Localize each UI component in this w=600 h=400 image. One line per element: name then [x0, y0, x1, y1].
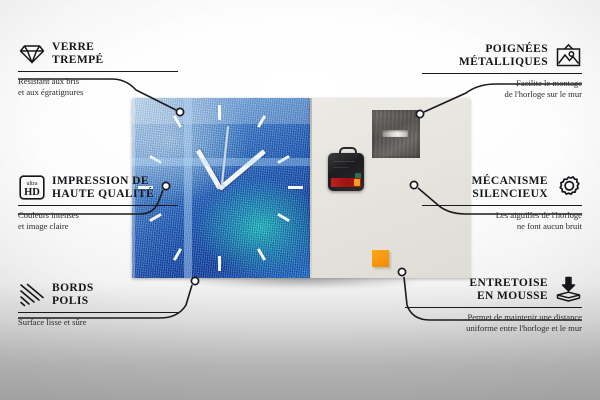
callout-subtitle: Permet de maintenir une distance uniform…: [405, 312, 582, 333]
subtitle-line: de l'horloge sur le mur: [422, 89, 582, 100]
subtitle-line: et image claire: [18, 221, 178, 232]
subtitle-line: Résistant aux bris: [18, 76, 178, 87]
callout-title-line: MÉTALLIQUES: [459, 56, 548, 69]
picture-frame-hanger-icon: [555, 42, 582, 69]
infographic-canvas: VERRETREMPÉ Résistant aux bris et aux ég…: [0, 0, 600, 400]
callout-title: IMPRESSION DEHAUTE QUALITÉ: [52, 175, 154, 201]
callout-title-line: POLIS: [52, 295, 94, 308]
callout-title-line: POIGNÉES: [459, 43, 548, 56]
callout-subtitle: Résistant aux bris et aux égratignures: [18, 76, 178, 97]
subtitle-line: et aux égratignures: [18, 87, 178, 98]
subtitle-line: Couleurs intenses: [18, 210, 178, 221]
hanger-slot: [382, 130, 408, 137]
quartz-movement: [328, 153, 364, 191]
callout-entretoise-en-mousse[interactable]: ENTRETOISEEN MOUSSE Permet de maintenir …: [405, 276, 582, 333]
callout-title: VERRETREMPÉ: [52, 41, 104, 67]
gear-icon: [555, 174, 582, 201]
clock-hour-hand: [196, 149, 222, 190]
callout-divider: [422, 73, 582, 74]
clock-minute-hand: [218, 149, 266, 190]
ultra-hd-badge-icon: ultra HD: [18, 174, 45, 201]
subtitle-line: Surface lisse et sûre: [18, 317, 178, 328]
callout-mecanisme-silencieux[interactable]: MÉCANISMESILENCIEUX Les aiguilles de l'h…: [422, 174, 582, 231]
battery-label: [331, 178, 361, 187]
subtitle-line: uniforme entre l'horloge et le mur: [405, 323, 582, 334]
movement-detail-line: [333, 161, 355, 162]
clock-second-hand: [221, 126, 229, 188]
product-image: [132, 98, 470, 282]
callout-title-line: SILENCIEUX: [472, 188, 548, 201]
clock-center-pin: [219, 185, 224, 190]
callout-impression-haute-qualite[interactable]: ultra HD IMPRESSION DEHAUTE QUALITÉ Coul…: [18, 174, 178, 231]
callout-subtitle: Les aiguilles de l'horloge ne font aucun…: [422, 210, 582, 231]
diamond-icon: [18, 40, 45, 67]
diagonal-lines-icon: [18, 281, 45, 308]
callout-divider: [18, 205, 178, 206]
callout-subtitle: Surface lisse et sûre: [18, 317, 178, 328]
callout-subtitle: Facilite le montage de l'horloge sur le …: [422, 78, 582, 99]
callout-title-line: MÉCANISME: [472, 175, 548, 188]
callout-verre-trempe[interactable]: VERRETREMPÉ Résistant aux bris et aux ég…: [18, 40, 178, 97]
callout-poignees-metalliques[interactable]: POIGNÉESMÉTALLIQUES Facilite le montage …: [422, 42, 582, 99]
callout-title: ENTRETOISEEN MOUSSE: [469, 277, 548, 303]
callout-divider: [422, 205, 582, 206]
callout-divider: [405, 307, 582, 308]
subtitle-line: Les aiguilles de l'horloge: [422, 210, 582, 221]
callout-title-line: ENTRETOISE: [469, 277, 548, 290]
subtitle-line: ne font aucun bruit: [422, 221, 582, 232]
foam-spacer: [372, 250, 389, 267]
callout-divider: [18, 71, 178, 72]
movement-hook: [339, 147, 357, 158]
callout-title-line: IMPRESSION DE: [52, 175, 154, 188]
callout-title-line: EN MOUSSE: [469, 290, 548, 303]
movement-detail-line: [333, 167, 349, 168]
metal-hanger-plate: [372, 110, 420, 158]
callout-title-line: VERRE: [52, 41, 104, 54]
callout-title: MÉCANISMESILENCIEUX: [472, 175, 548, 201]
callout-title: BORDSPOLIS: [52, 282, 94, 308]
subtitle-line: Facilite le montage: [422, 78, 582, 89]
panel-edge: [310, 98, 312, 278]
callout-bords-polis[interactable]: BORDSPOLIS Surface lisse et sûre: [18, 281, 178, 328]
callout-title-line: TREMPÉ: [52, 54, 104, 67]
callout-title-line: BORDS: [52, 282, 94, 295]
arrow-down-onto-layers-icon: [555, 276, 582, 303]
svg-text:HD: HD: [24, 187, 40, 198]
callout-title-line: HAUTE QUALITÉ: [52, 188, 154, 201]
callout-divider: [18, 312, 178, 313]
callout-subtitle: Couleurs intenses et image claire: [18, 210, 178, 231]
subtitle-line: Permet de maintenir une distance: [405, 312, 582, 323]
callout-title: POIGNÉESMÉTALLIQUES: [459, 43, 548, 69]
